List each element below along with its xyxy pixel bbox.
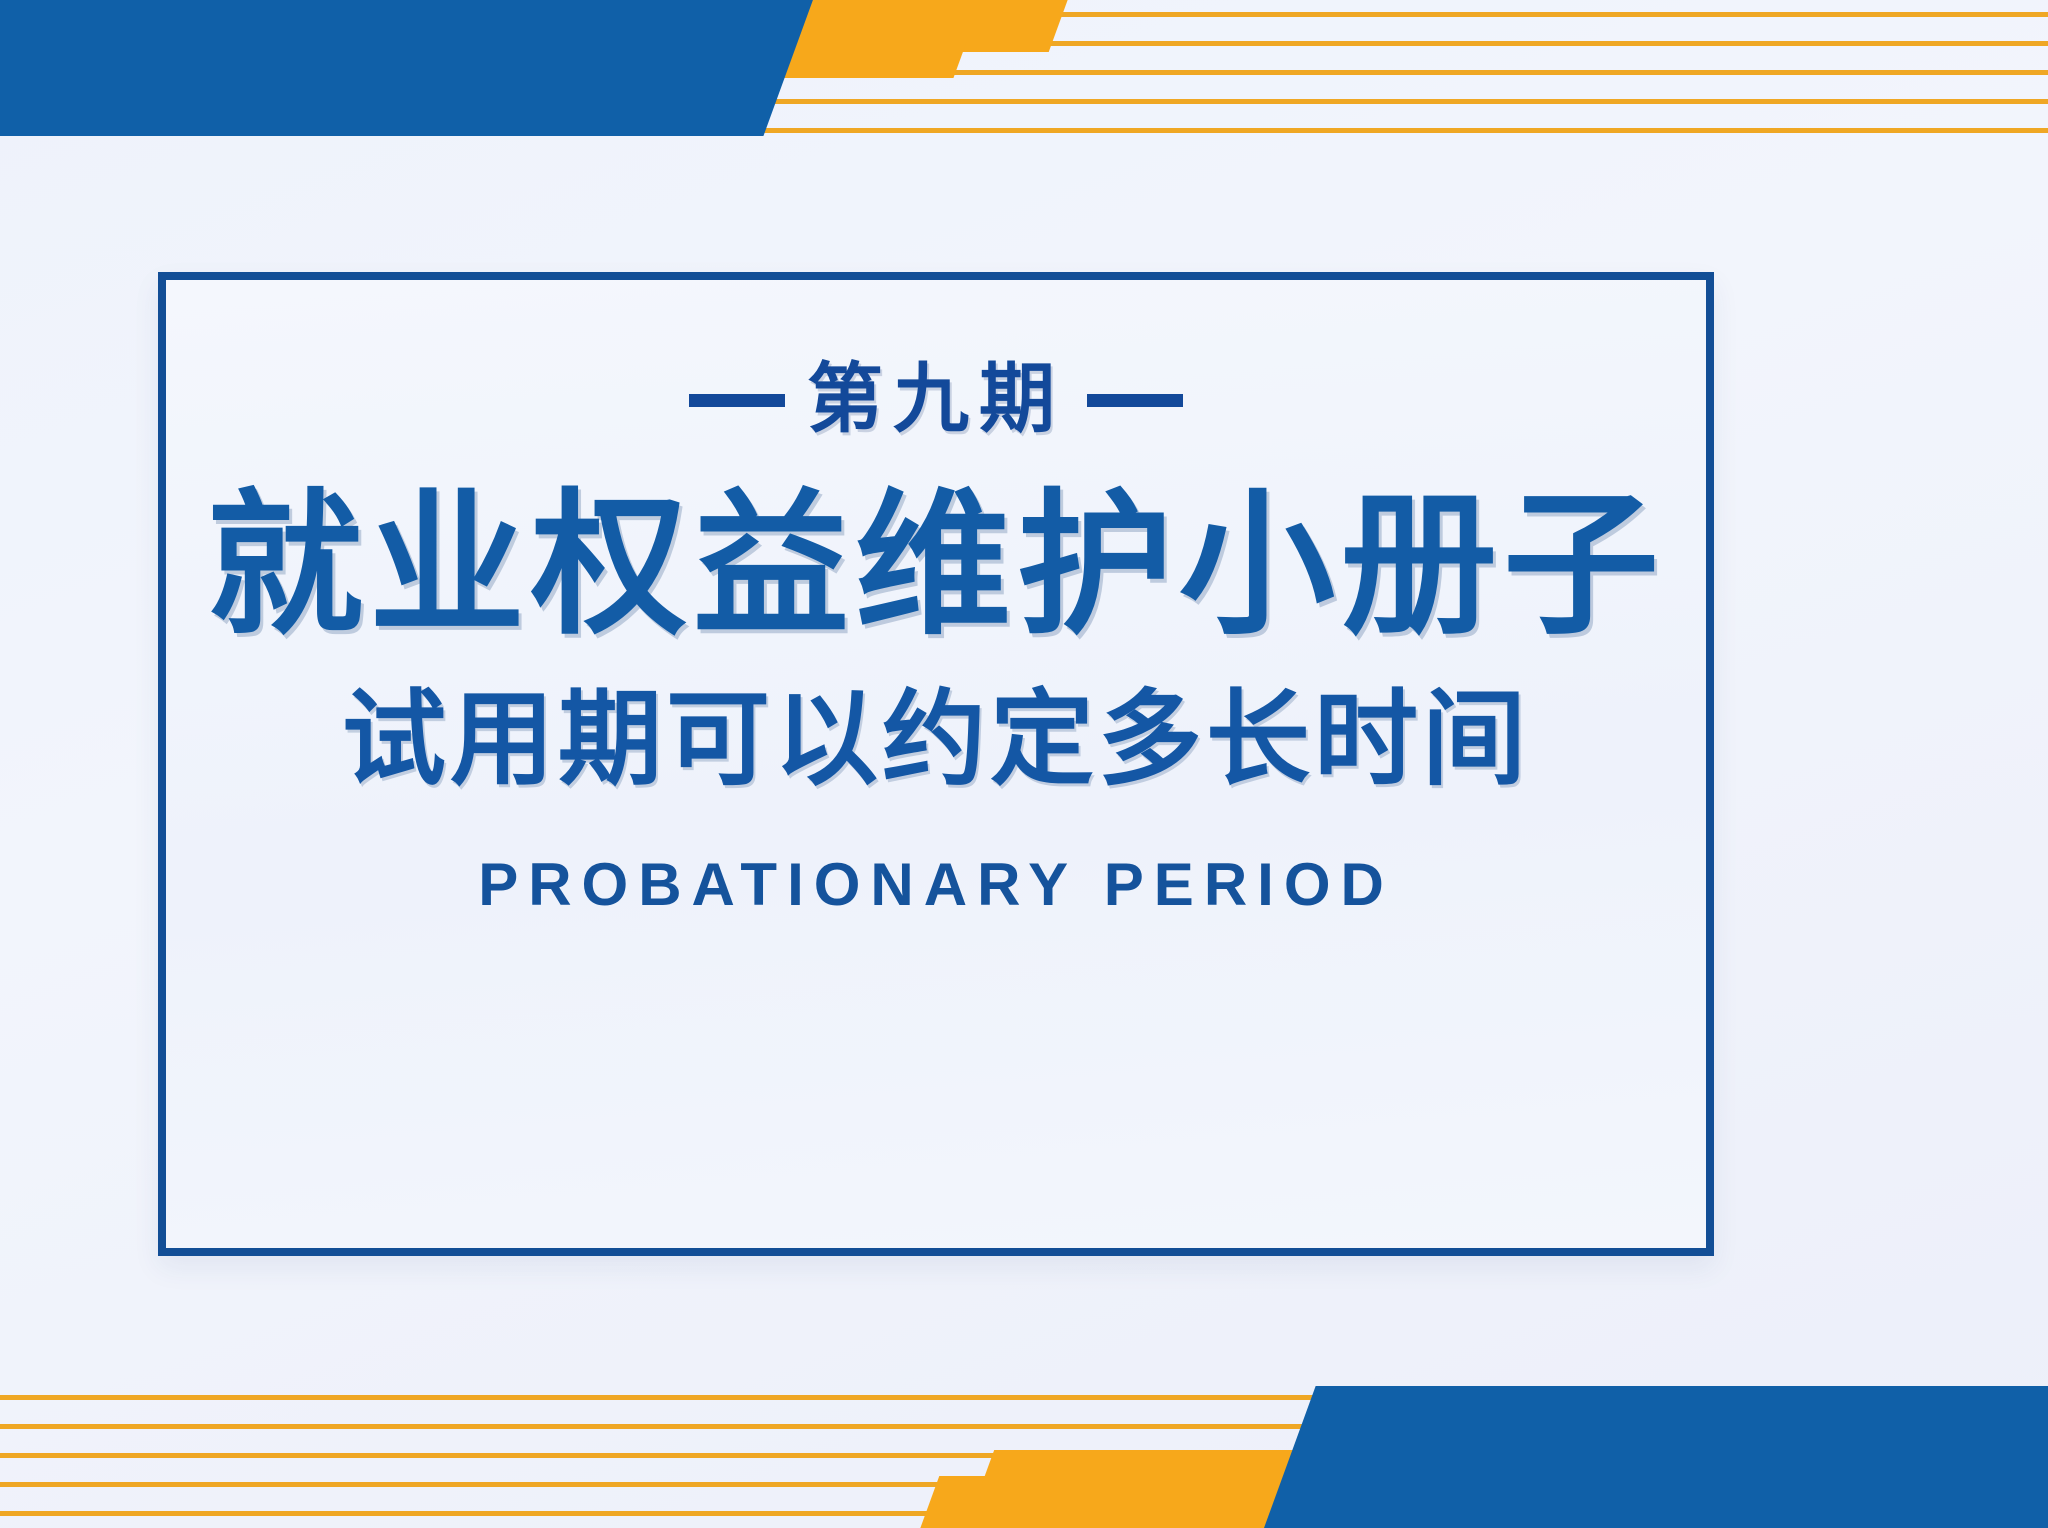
top-stripe-group [0,0,2048,180]
orange-parallelogram-bottom-secondary [982,1450,1294,1484]
stripe-line [0,1453,1405,1458]
orange-parallelogram-top-secondary [653,42,966,78]
bottom-stripe-group [0,1348,2048,1528]
stripe-line [0,1482,1377,1487]
stripe-line [699,12,2048,17]
issue-badge: 第九期 [689,362,1183,438]
bottom-decoration [0,1348,2048,1528]
stripe-line [0,1511,1349,1516]
content-frame: 第九期 就业权益维护小册子 试用期可以约定多长时间 PROBATIONARY P… [158,272,1714,1256]
page-subtitle: 试用期可以约定多长时间 [342,683,1530,797]
stripe-line [643,70,2048,75]
issue-dash-left-icon [689,394,785,407]
issue-dash-right-icon [1087,394,1183,407]
stripe-line [587,128,2048,133]
poster-canvas: 第九期 就业权益维护小册子 试用期可以约定多长时间 PROBATIONARY P… [0,0,2048,1528]
issue-label: 第九期 [807,362,1065,438]
english-subtitle: PROBATIONARY PERIOD [478,850,1394,919]
stripe-line [0,1424,1433,1429]
top-decoration [0,0,2048,180]
blue-parallelogram-bottom-right [1260,1386,2048,1528]
stripe-line [671,41,2048,46]
stripe-line [0,1395,1461,1400]
orange-parallelogram-top [629,0,1072,52]
stripe-line [615,99,2048,104]
page-title: 就业权益维护小册子 [207,484,1665,649]
blue-parallelogram-top-left [0,0,817,136]
orange-parallelogram-bottom [917,1476,1360,1528]
